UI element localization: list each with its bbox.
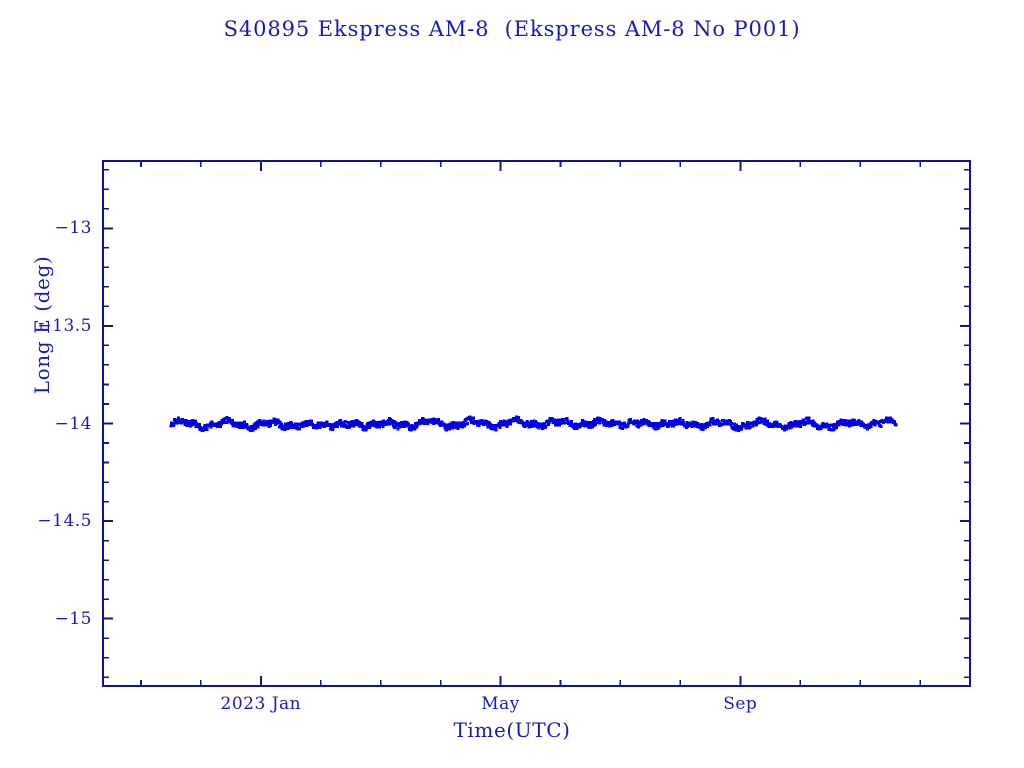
satellite-longitude-plot: S40895 Ekspress AM-8 (Ekspress AM-8 No P…: [0, 0, 1024, 768]
y-tick-label: −14: [55, 414, 92, 434]
plot-canvas: [102, 160, 971, 687]
x-tick-label: 2023 Jan: [221, 694, 302, 714]
y-tick-label: −14.5: [37, 511, 92, 531]
y-axis-title: Long E (deg): [30, 256, 54, 395]
y-axis-title-wrap: Long E (deg): [27, 215, 57, 435]
x-tick-label: May: [481, 694, 520, 714]
page-title: S40895 Ekspress AM-8 (Ekspress AM-8 No P…: [0, 17, 1024, 41]
data-series-longitude: [169, 415, 897, 432]
x-axis-title: Time(UTC): [0, 718, 1024, 742]
y-tick-label: −13: [55, 218, 92, 238]
y-tick-label: −15: [55, 609, 92, 629]
x-tick-label: Sep: [723, 694, 757, 714]
